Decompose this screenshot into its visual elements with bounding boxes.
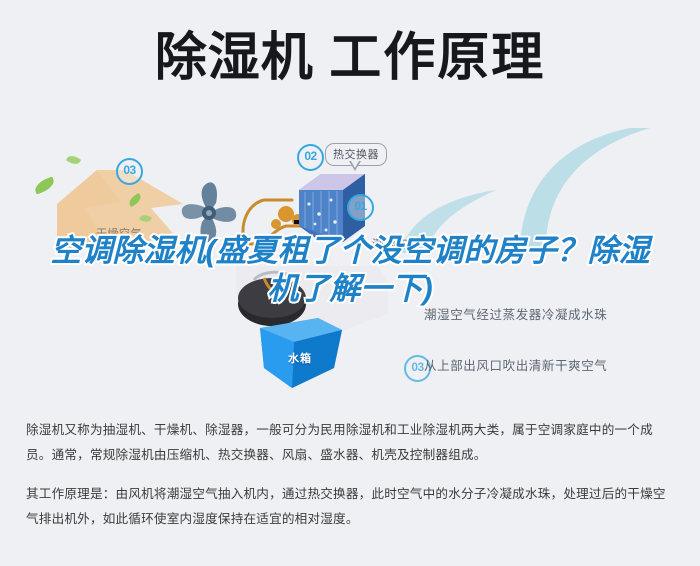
page-root: 除湿机 工作原理 干燥空气: [0, 0, 700, 566]
page-title: 除湿机 工作原理: [0, 28, 700, 88]
leaf-icon: [66, 153, 81, 166]
leaf-icon: [33, 176, 57, 194]
body-paragraph-1: 除湿机又称为抽湿机、干燥机、除湿器，一般可分为民用除湿机和工业除湿机两大类，属于…: [26, 418, 678, 468]
annotation-dry-output: 从上部出风口吹出清新干爽空气: [424, 355, 607, 374]
page-title-part2: 工作原理: [329, 29, 545, 87]
body-paragraph-2: 其工作原理是：由风机将潮湿空气抽入机内，通过热交换器，此时空气中的水分子冷凝成水…: [26, 482, 678, 532]
page-title-part1: 除湿机: [155, 29, 314, 87]
hero-illustration: 除湿机 工作原理 干燥空气: [0, 0, 700, 410]
article-body: 除湿机又称为抽湿机、干燥机、除湿器，一般可分为民用除湿机和工业除湿机两大类，属于…: [26, 418, 678, 532]
bubble-tail-icon: [349, 161, 361, 171]
overlay-headline: 空调除湿机(盛夏租了个没空调的房子？除湿机了解一下): [0, 232, 700, 308]
water-tank-label: 水箱: [288, 350, 312, 366]
callout-badge-03: 03: [116, 158, 143, 185]
callout-badge-02: 02: [297, 144, 324, 171]
callout-badge-01: 01: [347, 194, 374, 221]
